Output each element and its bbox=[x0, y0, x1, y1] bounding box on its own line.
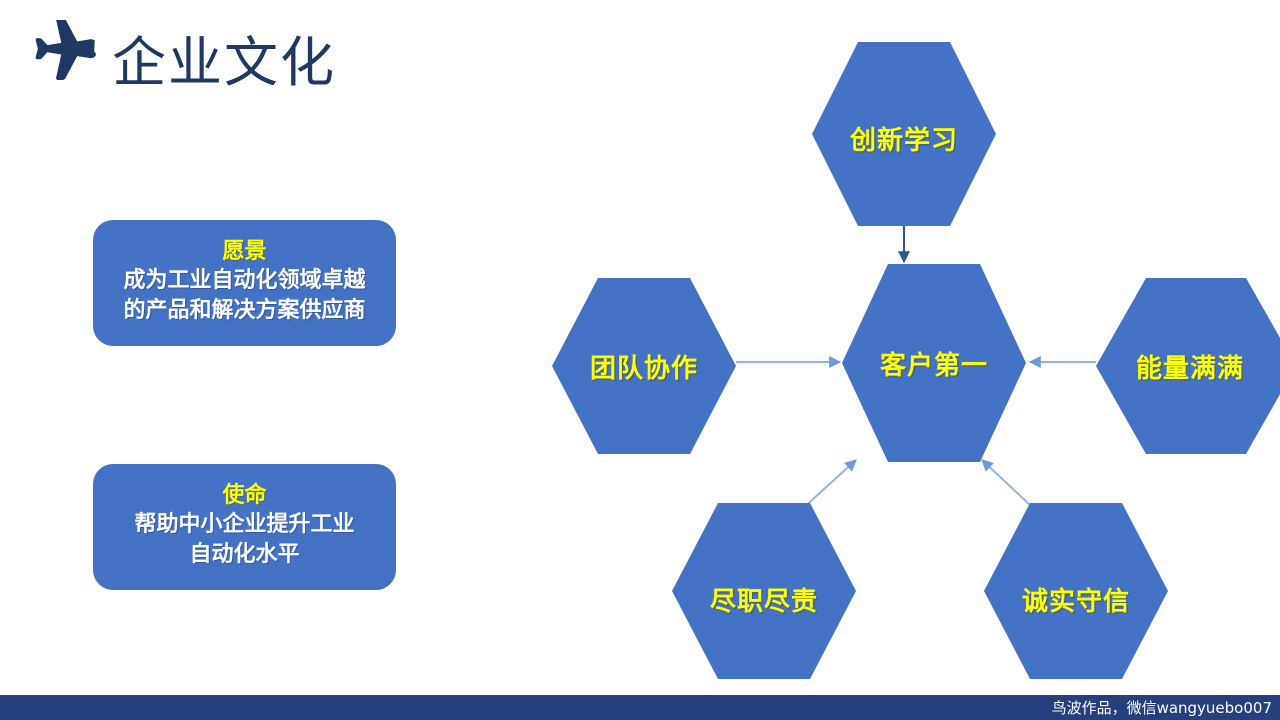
slide-canvas: 企业文化 愿景 成为工业自动化领域卓越 的产品和解决方案供应商 使命 帮助中小企… bbox=[0, 0, 1280, 720]
hex-label-energy: 能量满满 bbox=[1136, 348, 1244, 385]
hex-label-center: 客户第一 bbox=[880, 345, 988, 382]
hex-label-innovation: 创新学习 bbox=[850, 120, 958, 157]
footer-credit-text: 鸟波作品，微信wangyuebo007 bbox=[1052, 699, 1280, 717]
hex-label-duty: 尽职尽责 bbox=[710, 581, 818, 618]
footer-bar: 鸟波作品，微信wangyuebo007 bbox=[0, 695, 1280, 720]
culture-hexagon-diagram: 创新学习 团队协作 客户第一 能量满满 尽职尽责 诚实守信 bbox=[0, 0, 1280, 695]
hex-label-team: 团队协作 bbox=[590, 348, 698, 385]
hex-label-honesty: 诚实守信 bbox=[1022, 581, 1130, 618]
